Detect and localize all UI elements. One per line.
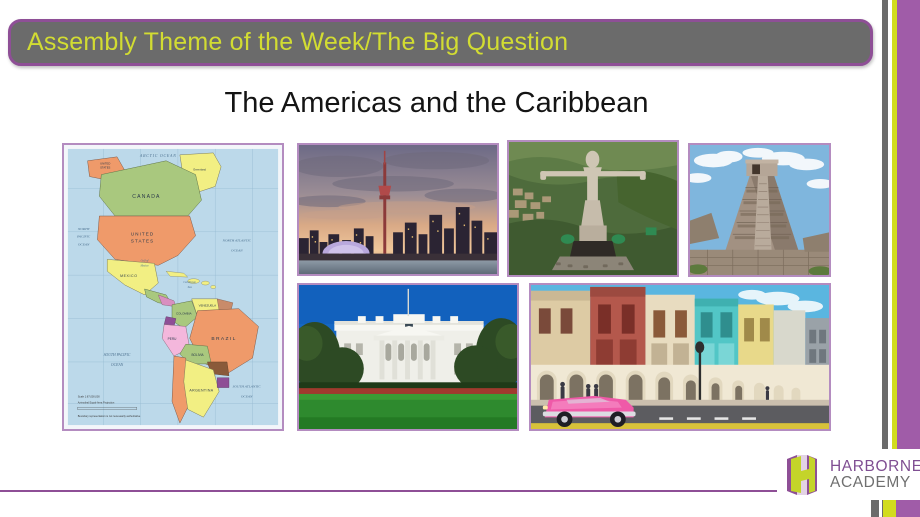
svg-text:Azimuthal Equal-Area Projectio: Azimuthal Equal-Area Projection — [78, 400, 115, 404]
logo-wordmark: HARBORNE ACADEMY — [830, 459, 920, 491]
svg-text:VENEZUELA: VENEZUELA — [199, 304, 216, 308]
svg-text:NORTH ATLANTIC: NORTH ATLANTIC — [222, 239, 252, 243]
swatch-gray — [871, 500, 879, 517]
toronto-graphic — [299, 145, 497, 274]
image-christ-the-redeemer-statue — [507, 140, 679, 277]
svg-text:STATES: STATES — [100, 166, 110, 170]
svg-text:BOLIVIA: BOLIVIA — [191, 353, 204, 357]
slide-heading: The Americas and the Caribbean — [0, 88, 873, 120]
svg-text:OCEAN: OCEAN — [231, 248, 243, 252]
svg-text:COLOMBIA: COLOMBIA — [176, 312, 192, 316]
image-white-house-washington — [297, 283, 519, 431]
svg-text:Caribbean: Caribbean — [183, 280, 196, 284]
svg-text:PERU: PERU — [168, 337, 177, 341]
svg-text:Greenland: Greenland — [193, 168, 206, 172]
swatch-purple — [896, 500, 920, 517]
rio-graphic — [509, 142, 677, 275]
letter-h-monogram-icon — [781, 453, 823, 497]
footer-divider — [0, 490, 840, 492]
image-chichen-itza-pyramid — [688, 143, 831, 277]
svg-text:OCEAN: OCEAN — [111, 363, 124, 367]
decor-stripe-gray — [882, 0, 888, 517]
svg-text:NORTH: NORTH — [77, 227, 90, 231]
map-graphic: CANADA UNITED STATES MEXICO BRAZIL PERU … — [64, 145, 282, 429]
logo-line-2: ACADEMY — [830, 475, 920, 491]
image-havana-street-vintage-car — [529, 283, 831, 431]
title-banner: Assembly Theme of the Week/The Big Quest… — [8, 19, 873, 66]
svg-text:ARGENTINA: ARGENTINA — [189, 389, 213, 393]
havana-graphic — [531, 285, 829, 429]
svg-text:ARCTIC OCEAN: ARCTIC OCEAN — [139, 153, 177, 158]
decor-swatches — [871, 500, 920, 517]
svg-text:PACIFIC: PACIFIC — [76, 235, 91, 239]
svg-text:UNITED: UNITED — [131, 232, 154, 237]
image-political-map-of-the-americas: CANADA UNITED STATES MEXICO BRAZIL PERU … — [62, 143, 284, 431]
harborne-academy-logo: HARBORNE ACADEMY — [777, 449, 920, 500]
whitehouse-graphic — [299, 285, 517, 429]
svg-text:CANADA: CANADA — [132, 194, 160, 200]
svg-text:STATES: STATES — [131, 239, 154, 244]
svg-text:OCEAN: OCEAN — [78, 243, 90, 247]
svg-text:SOUTH ATLANTIC: SOUTH ATLANTIC — [233, 385, 262, 389]
decor-band-purple — [897, 0, 920, 517]
slide-canvas: Assembly Theme of the Week/The Big Quest… — [0, 0, 920, 517]
svg-text:Sea: Sea — [188, 285, 193, 289]
svg-text:MEXICO: MEXICO — [120, 274, 137, 278]
svg-text:Gulf of: Gulf of — [141, 259, 150, 262]
chichen-graphic — [690, 145, 829, 275]
svg-text:BRAZIL: BRAZIL — [211, 336, 236, 342]
svg-text:UNITED: UNITED — [100, 162, 110, 166]
svg-text:OCEAN: OCEAN — [241, 394, 253, 398]
svg-text:Scale 1:87,000,000: Scale 1:87,000,000 — [78, 394, 100, 398]
slide-title: Assembly Theme of the Week/The Big Quest… — [11, 30, 568, 55]
logo-line-1: HARBORNE — [830, 459, 920, 475]
svg-text:SOUTH PACIFIC: SOUTH PACIFIC — [104, 353, 131, 357]
svg-text:Mexico: Mexico — [139, 264, 149, 267]
swatch-lime — [883, 500, 892, 517]
image-toronto-skyline-cn-tower — [297, 143, 499, 276]
svg-text:Boundary representation is not: Boundary representation is not necessari… — [78, 414, 141, 418]
